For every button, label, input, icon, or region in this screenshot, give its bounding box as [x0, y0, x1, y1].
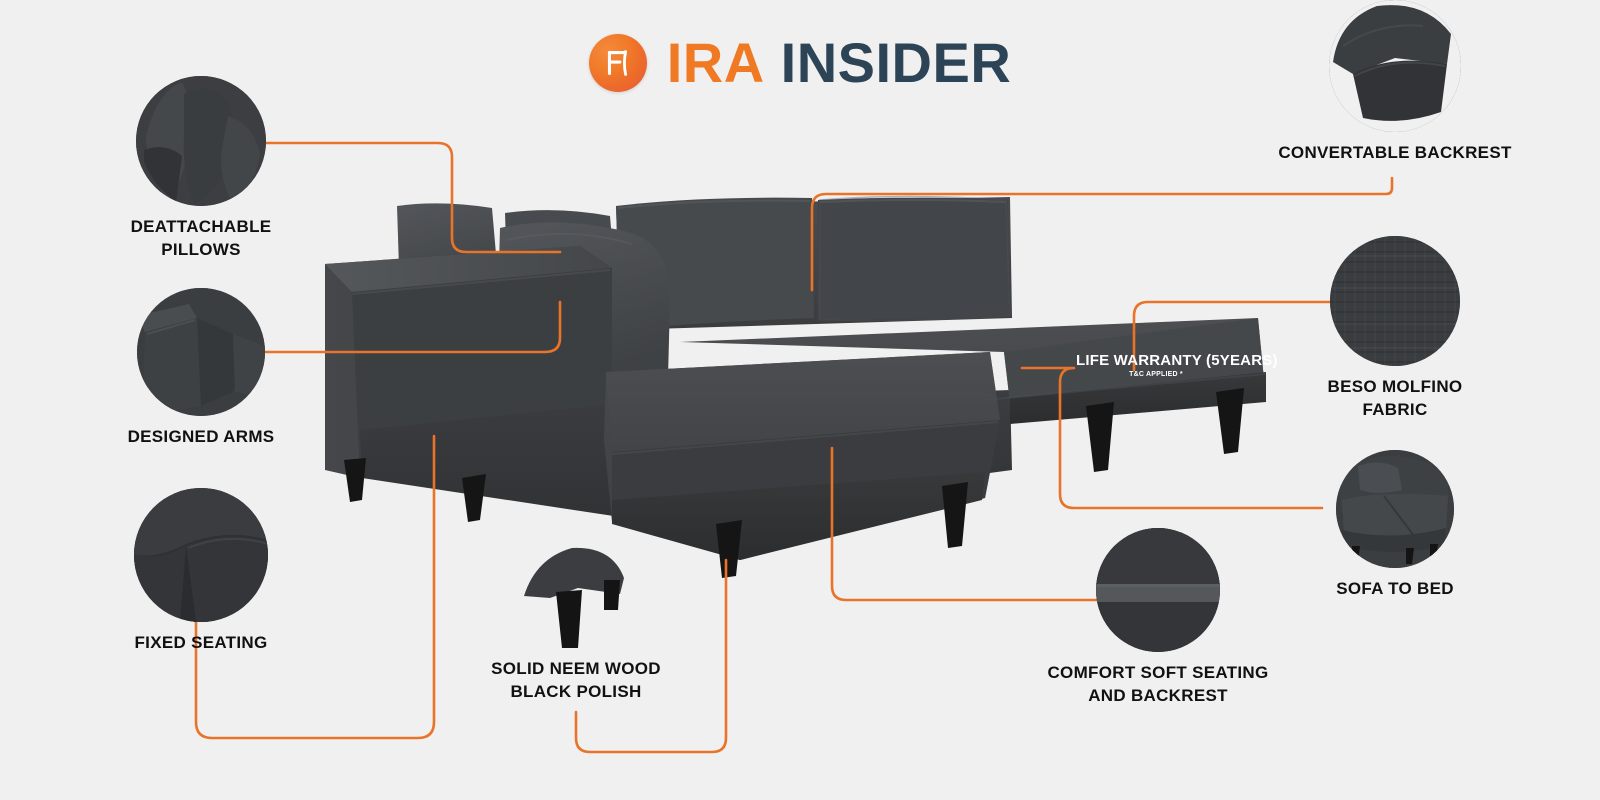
brand-header: IRAINSIDER — [0, 34, 1600, 92]
feature-label: DESIGNED ARMS — [56, 426, 346, 449]
fabric-swatch-thumbnail — [1330, 236, 1460, 366]
feature-label: COMFORT SOFT SEATING AND BACKREST — [1018, 662, 1298, 707]
brand-word-insider: INSIDER — [781, 31, 1012, 94]
page-title: IRAINSIDER — [667, 35, 1012, 91]
feature-label: SOLID NEEM WOOD BLACK POLISH — [436, 658, 716, 703]
cushion-edge-thumbnail — [1096, 528, 1220, 652]
brand-word-ira: IRA — [667, 31, 765, 94]
feature-beso-molfino-fabric[interactable]: BESO MOLFINO FABRIC — [1250, 236, 1540, 421]
feature-sofa-to-bed[interactable]: SOFA TO BED — [1250, 450, 1540, 601]
feature-deattachable-pillows[interactable]: DEATTACHABLE PILLOWS — [56, 76, 346, 261]
feature-label: BESO MOLFINO FABRIC — [1250, 376, 1540, 421]
seat-thumbnail — [134, 488, 268, 622]
wood-leg-thumbnail — [520, 536, 632, 648]
pillows-thumbnail — [136, 76, 266, 206]
arm-thumbnail — [137, 288, 265, 416]
feature-fixed-seating[interactable]: FIXED SEATING — [56, 488, 346, 655]
feature-designed-arms[interactable]: DESIGNED ARMS — [56, 288, 346, 449]
feature-label: SOFA TO BED — [1250, 578, 1540, 601]
ira-chair-monogram-icon — [589, 34, 647, 92]
feature-label: CONVERTABLE BACKREST — [1250, 142, 1540, 165]
feature-label: DEATTACHABLE PILLOWS — [56, 216, 346, 261]
feature-label: FIXED SEATING — [56, 632, 346, 655]
infographic-canvas: IRAINSIDER DEATTACHABLE PILLOWS — [0, 0, 1600, 800]
sofa-bed-thumbnail — [1336, 450, 1454, 568]
feature-solid-neem-wood-black-polish[interactable]: SOLID NEEM WOOD BLACK POLISH — [436, 536, 716, 703]
